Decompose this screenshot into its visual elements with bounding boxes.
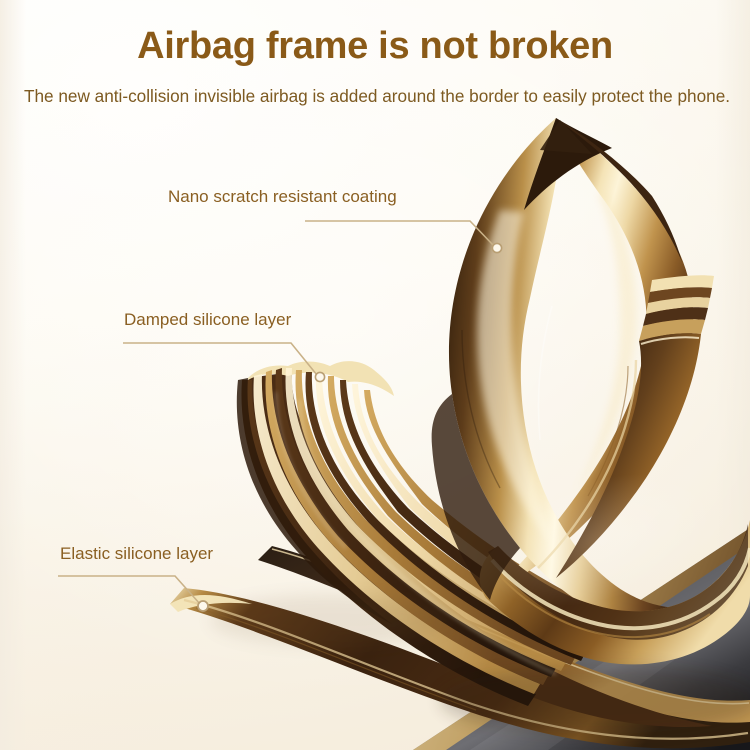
airbag-frame-illustration xyxy=(0,0,750,750)
soft-shadow-left xyxy=(210,594,450,646)
contact-shadow xyxy=(440,666,750,734)
product-feature-graphic: Airbag frame is not broken The new anti-… xyxy=(0,0,750,750)
leader-line-damped-silicone xyxy=(123,343,325,382)
page-subtitle: The new anti-collision invisible airbag … xyxy=(14,84,740,108)
page-title: Airbag frame is not broken xyxy=(0,26,750,68)
callout-label-elastic-silicone: Elastic silicone layer xyxy=(60,545,213,562)
callout-label-nano-coating: Nano scratch resistant coating xyxy=(168,188,397,205)
callout-label-damped-silicone: Damped silicone layer xyxy=(124,311,291,328)
